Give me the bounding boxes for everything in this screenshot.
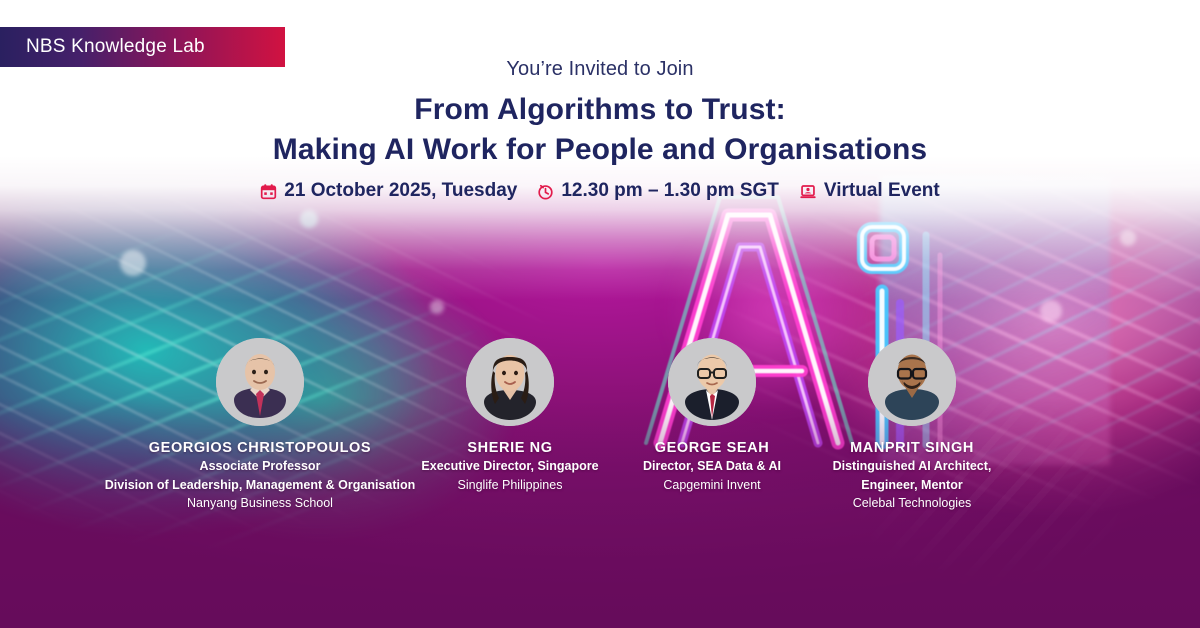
avatar (668, 338, 756, 426)
laptop-icon (799, 183, 817, 200)
event-date: 21 October 2025, Tuesday (284, 180, 517, 202)
speaker-role: Executive Director, Singapore (412, 459, 608, 475)
speaker-card: SHERIE NG Executive Director, Singapore … (412, 338, 608, 493)
event-time: 12.30 pm – 1.30 pm SGT (561, 180, 779, 202)
speaker-org: Capgemini Invent (614, 478, 810, 494)
bokeh-dot (430, 300, 444, 314)
speaker-role-line2: Engineer, Mentor (812, 478, 1012, 494)
speaker-card: MANPRIT SINGH Distinguished AI Architect… (812, 338, 1012, 512)
event-title-line1: From Algorithms to Trust: (0, 93, 1200, 127)
event-meta-line: 21 October 2025, Tuesday 12.30 pm – 1.30… (0, 180, 1200, 202)
calendar-icon (260, 183, 277, 200)
speaker-org: Singlife Philippines (412, 478, 608, 494)
speaker-list: GEORGIOS CHRISTOPOULOS Associate Profess… (0, 338, 1200, 528)
event-title-line2: Making AI Work for People and Organisati… (0, 133, 1200, 167)
event-poster: NBS Knowledge Lab You’re Invited to Join… (0, 0, 1200, 628)
speaker-role-line2: Division of Leadership, Management & Org… (60, 478, 460, 494)
clock-icon (537, 183, 554, 200)
speaker-name: GEORGE SEAH (614, 440, 810, 456)
headline-block: You’re Invited to Join From Algorithms t… (0, 58, 1200, 202)
avatar (868, 338, 956, 426)
event-venue: Virtual Event (824, 180, 940, 202)
avatar (466, 338, 554, 426)
speaker-name: GEORGIOS CHRISTOPOULOS (60, 440, 460, 456)
speaker-role: Associate Professor (60, 459, 460, 475)
speaker-card: GEORGIOS CHRISTOPOULOS Associate Profess… (60, 338, 460, 512)
speaker-role: Director, SEA Data & AI (614, 459, 810, 475)
bokeh-dot (1040, 300, 1062, 322)
speaker-card: GEORGE SEAH Director, SEA Data & AI Capg… (614, 338, 810, 493)
speaker-name: SHERIE NG (412, 440, 608, 456)
speaker-role: Distinguished AI Architect, (812, 459, 1012, 475)
invite-line: You’re Invited to Join (0, 58, 1200, 81)
speaker-org: Celebal Technologies (812, 496, 1012, 512)
speaker-name: MANPRIT SINGH (812, 440, 1012, 456)
speaker-org: Nanyang Business School (60, 496, 460, 512)
brand-logo-text: NBS Knowledge Lab (26, 36, 205, 58)
avatar (216, 338, 304, 426)
